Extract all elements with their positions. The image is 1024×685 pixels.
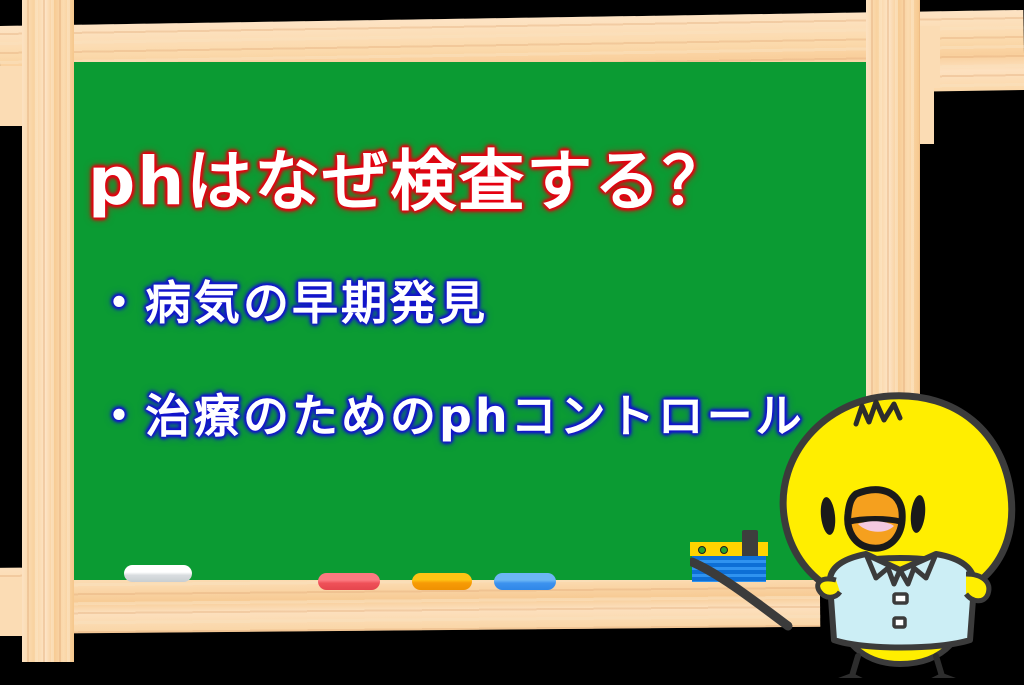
white-chalk bbox=[124, 565, 192, 582]
bullet-text-2: 治療のためのphコントロール bbox=[145, 389, 805, 443]
chick-wing-right bbox=[966, 574, 989, 601]
chick-foot-left bbox=[836, 656, 868, 678]
chick-coat-button-2 bbox=[894, 618, 905, 627]
page-title: phはなぜ検査する？ bbox=[88, 128, 868, 224]
chick-coat-button-1 bbox=[894, 594, 907, 603]
frame-left-post bbox=[22, 0, 74, 662]
bullet-marker-2: ・ bbox=[96, 389, 145, 443]
bullet-text-1: 病気の早期発見 bbox=[145, 276, 488, 330]
blackboard-scene: phはなぜ検査する？ ・病気の早期発見 ・治療のためのphコントロール bbox=[0, 0, 1024, 685]
blue-chalk bbox=[494, 573, 556, 590]
bullet-item-2: ・治療のためのphコントロール bbox=[96, 380, 805, 446]
chick-teacher-illustration bbox=[770, 388, 1024, 678]
red-chalk bbox=[318, 573, 380, 590]
orange-chalk bbox=[412, 573, 472, 590]
bullet-marker-1: ・ bbox=[96, 276, 145, 330]
bullet-item-1: ・病気の早期発見 bbox=[96, 267, 488, 333]
